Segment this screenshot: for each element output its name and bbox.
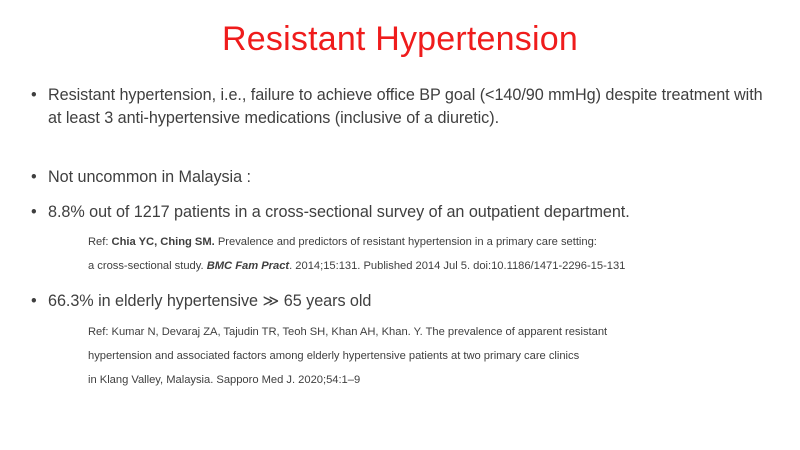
reference-line: in Klang Valley, Malaysia. Sapporo Med J… xyxy=(88,368,778,390)
page-title: Resistant Hypertension xyxy=(0,19,800,59)
reference-line: hypertension and associated factors amon… xyxy=(88,344,778,368)
bullet-marker-icon: • xyxy=(31,290,37,313)
reference-authors: Chia YC, Ching SM. xyxy=(112,236,215,248)
reference-journal: BMC Fam Pract xyxy=(207,260,289,272)
reference-prefix: Ref: xyxy=(88,236,112,248)
bullet-text: 66.3% in elderly hypertensive ≫ 65 years… xyxy=(48,292,371,310)
bullet-marker-icon: • xyxy=(31,201,37,224)
bullet-item-prevalence-heading: • Not uncommon in Malaysia : xyxy=(22,166,778,189)
reference-citation: . 2014;15:131. Published 2014 Jul 5. doi… xyxy=(289,260,625,272)
bullet-item-definition: • Resistant hypertension, i.e., failure … xyxy=(22,84,778,130)
bullet-marker-icon: • xyxy=(31,84,37,107)
reference-line: a cross-sectional study. BMC Fam Pract. … xyxy=(88,254,778,278)
bullet-text: Not uncommon in Malaysia : xyxy=(48,168,251,186)
bullet-item-elderly-stat: • 66.3% in elderly hypertensive ≫ 65 yea… xyxy=(22,290,778,313)
bullet-marker-icon: • xyxy=(31,166,37,189)
reference-chia: Ref: Chia YC, Ching SM. Prevalence and p… xyxy=(88,230,778,278)
reference-title: Prevalence and predictors of resistant h… xyxy=(215,236,597,248)
reference-kumar: Ref: Kumar N, Devaraj ZA, Tajudin TR, Te… xyxy=(88,320,778,390)
slide-body: • Resistant hypertension, i.e., failure … xyxy=(22,84,778,390)
reference-line: Ref: Chia YC, Ching SM. Prevalence and p… xyxy=(88,230,778,254)
reference-article: a cross-sectional study. xyxy=(88,260,207,272)
bullet-text: Resistant hypertension, i.e., failure to… xyxy=(48,86,763,127)
slide: Resistant Hypertension • Resistant hyper… xyxy=(0,0,800,450)
reference-line: Ref: Kumar N, Devaraj ZA, Tajudin TR, Te… xyxy=(88,320,778,344)
bullet-item-outpatient-stat: • 8.8% out of 1217 patients in a cross-s… xyxy=(22,201,778,224)
bullet-text: 8.8% out of 1217 patients in a cross-sec… xyxy=(48,203,630,221)
